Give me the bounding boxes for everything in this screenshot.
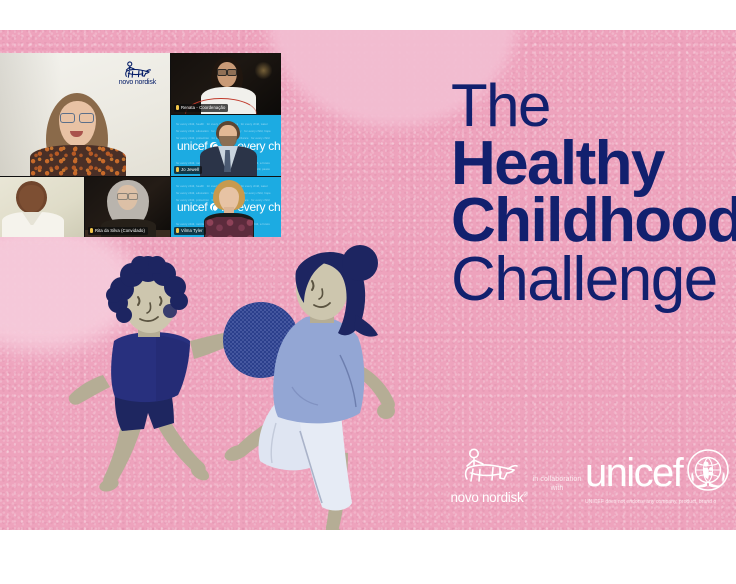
room-lamp-glow	[255, 61, 272, 80]
eyeglasses-icon	[60, 113, 94, 121]
illustration-children-playing-ball	[60, 245, 410, 530]
participant-name: Vilma Tyler	[181, 229, 203, 233]
apis-bull-icon	[460, 448, 518, 489]
page-title: The Healthy Childhood Challenge	[451, 78, 736, 308]
novo-nordisk-wordmark: novo nordisk®	[450, 490, 527, 505]
title-line-the: The	[451, 78, 736, 133]
microphone-icon	[176, 105, 179, 110]
video-conference-grid[interactable]: novo nordisk Renata - Coordenação for	[0, 53, 281, 237]
title-line-challenge: Challenge	[451, 251, 736, 308]
video-tile-host[interactable]: novo nordisk	[0, 53, 170, 176]
participant-nametag: Rita da Silva (Convidado)	[88, 227, 148, 235]
participant-name: Jo Jewell	[181, 168, 199, 172]
collaboration-note: in collaboration with	[529, 476, 585, 493]
participant-nametag: Vilma Tyler	[174, 227, 206, 235]
novo-nordisk-wordmark-small: novo nordisk	[119, 79, 156, 86]
participant-nametag: Jo Jewell	[174, 166, 202, 174]
person-body	[30, 145, 126, 176]
novo-nordisk-logo-overlay: novo nordisk	[119, 61, 156, 86]
participant-name: Renata - Coordenação	[181, 106, 225, 110]
person-scarf	[205, 217, 253, 237]
unicef-disclaimer: UNICEF does not endorse any company, pro…	[585, 499, 736, 505]
registered-mark: ®	[523, 493, 527, 499]
partner-logos: novo nordisk® in collaboration with unic…	[449, 443, 736, 505]
video-tile-renata[interactable]: Renata - Coordenação	[171, 53, 281, 114]
eyeglasses-icon	[217, 69, 237, 74]
video-tile-rita-da-silva[interactable]: Rita da Silva (Convidado)	[85, 177, 170, 237]
participant-nametag: Renata - Coordenação	[174, 104, 228, 112]
novo-nordisk-logo: novo nordisk®	[449, 448, 529, 505]
video-tile-participant-man[interactable]	[0, 177, 84, 237]
microphone-icon	[176, 228, 179, 233]
slide-screenshot: The Healthy Childhood Challenge	[0, 0, 736, 584]
unicef-wordmark: unicef	[585, 455, 682, 491]
microphone-icon	[176, 167, 179, 172]
eyeglasses-icon	[117, 193, 138, 198]
title-line-childhood: Childhood	[451, 192, 736, 249]
title-line-healthy: Healthy	[451, 135, 736, 192]
unicef-globe-emblem-icon	[686, 448, 730, 497]
microphone-icon	[90, 228, 93, 233]
video-tile-jo-jewell[interactable]: for every child, health for every child,…	[171, 115, 281, 176]
unicef-logo: unicef	[585, 448, 736, 505]
participant-name: Rita da Silva (Convidado)	[95, 229, 145, 233]
video-tile-vilma-tyler[interactable]: for every child, health for every child,…	[171, 177, 281, 237]
person-face	[59, 101, 96, 146]
